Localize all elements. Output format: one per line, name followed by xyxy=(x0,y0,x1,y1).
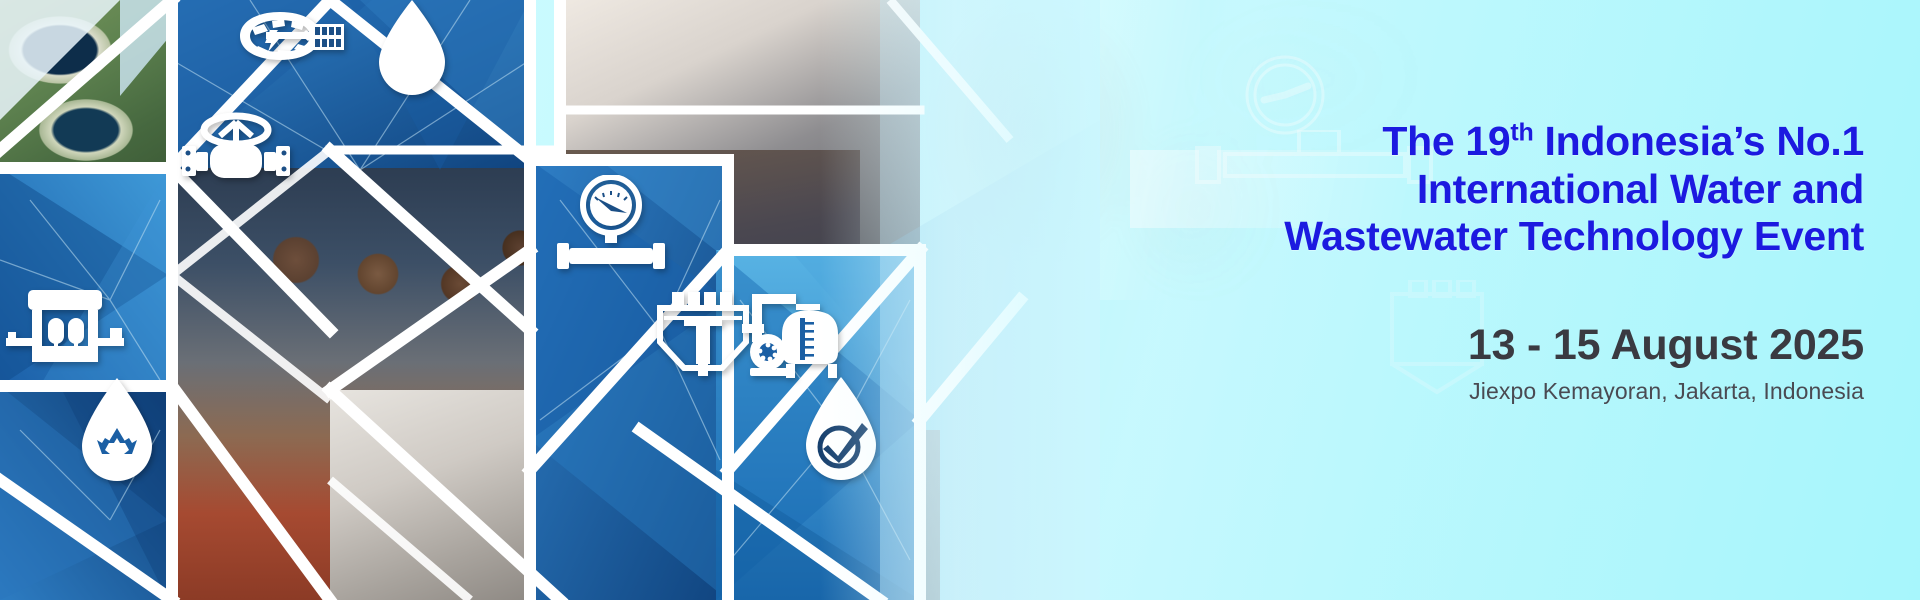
headline-line-1-pre: The 19 xyxy=(1382,118,1510,164)
ordinal-suffix: th xyxy=(1510,118,1533,146)
water-droplet-icon xyxy=(373,0,451,100)
hopper-settling-tank-icon xyxy=(650,286,756,380)
pressure-gauge-pipe-icon xyxy=(555,175,667,275)
headline-line-1: The 19th Indonesia’s No.1 xyxy=(1284,118,1864,166)
banner-copy: The 19th Indonesia’s No.1 International … xyxy=(1000,0,1920,600)
clarifier-tank-icon xyxy=(236,6,348,82)
page-title: The 19th Indonesia’s No.1 International … xyxy=(1284,118,1864,261)
event-venue: Jiexpo Kemayoran, Jakarta, Indonesia xyxy=(1469,378,1864,405)
event-banner: The 19th Indonesia’s No.1 International … xyxy=(0,0,1920,600)
event-date: 13 - 15 August 2025 xyxy=(1468,323,1864,368)
filtration-unit-icon xyxy=(6,286,124,372)
pipe-valve-icon xyxy=(180,108,292,180)
headline-line-3: Wastewater Technology Event xyxy=(1284,213,1864,261)
headline-line-2: International Water and xyxy=(1284,166,1864,214)
headline-line-1-post: Indonesia’s No.1 xyxy=(1533,118,1864,164)
photo-mosaic xyxy=(0,0,1100,600)
recycle-droplet-icon xyxy=(74,378,160,486)
